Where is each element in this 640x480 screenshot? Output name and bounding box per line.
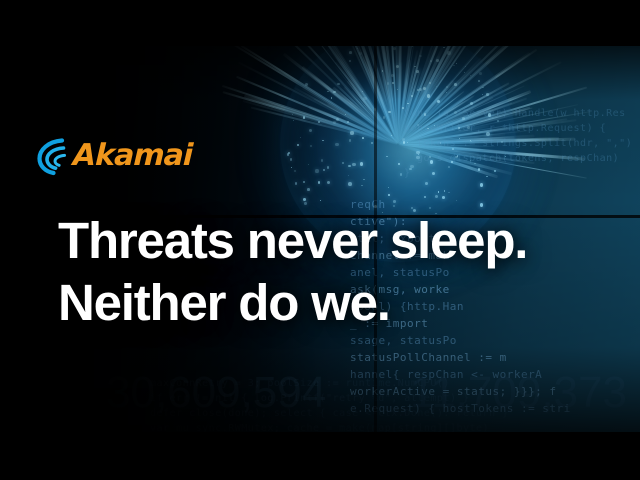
headline-line-2: Neither do we. xyxy=(58,272,618,334)
akamai-wave-icon xyxy=(36,136,70,176)
letterbox-top xyxy=(0,0,640,46)
video-frame: func (s *Server) Handle(w http.ResponseW… xyxy=(0,0,640,480)
headline-line-1: Threats never sleep. xyxy=(58,210,618,272)
akamai-logo[interactable]: Akamai xyxy=(36,130,166,182)
headline: Threats never sleep. Neither do we. xyxy=(58,210,618,334)
video-content-area: func (s *Server) Handle(w http.ResponseW… xyxy=(0,46,640,432)
akamai-wordmark: Akamai xyxy=(72,141,192,171)
letterbox-bottom xyxy=(0,432,640,480)
